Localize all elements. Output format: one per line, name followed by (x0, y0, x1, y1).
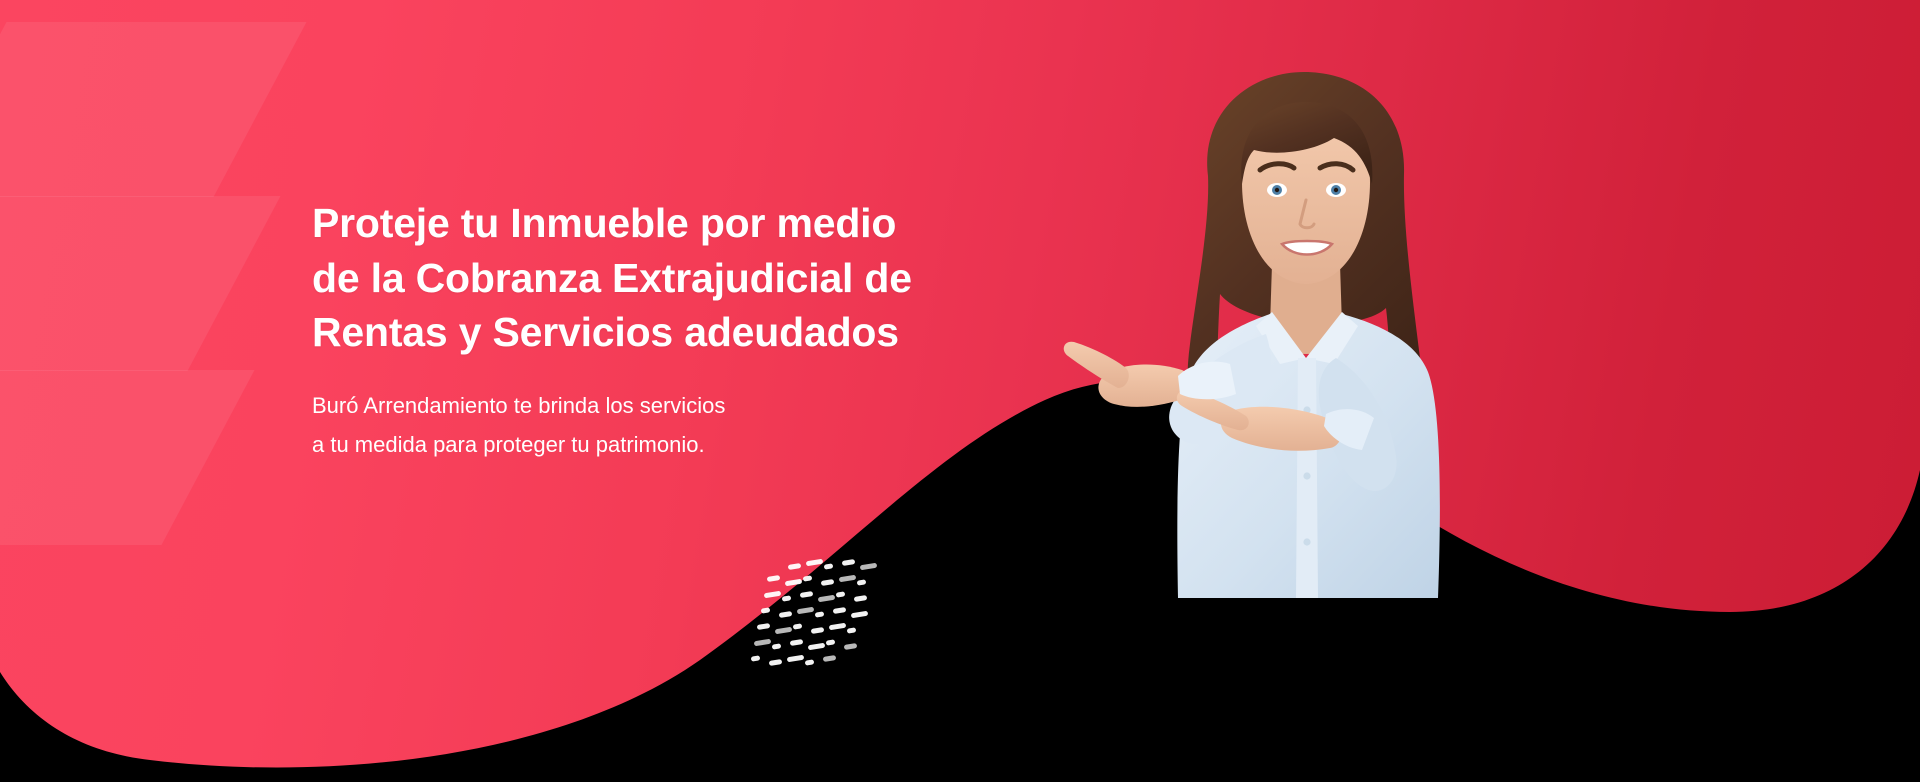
dot-dash (853, 595, 867, 602)
dot-dash (790, 639, 804, 646)
headline-line-2: de la Cobranza Extrajudicial de (312, 251, 1032, 306)
dot-dash (829, 623, 847, 631)
dot-dash (844, 643, 858, 650)
dot-dash (781, 595, 791, 601)
dot-dash (754, 639, 772, 647)
dot-dash (821, 579, 835, 586)
dot-dash (799, 591, 813, 598)
headline-line-1: Proteje tu Inmueble por medio (312, 196, 1032, 251)
dot-dash (787, 655, 805, 663)
dot-dash (793, 623, 803, 629)
shirt-button-3 (1303, 538, 1310, 545)
dot-dash (860, 563, 878, 571)
dot-dash (857, 579, 867, 585)
dot-dash (832, 607, 846, 614)
dot-dash (757, 623, 771, 630)
dot-dash (811, 627, 825, 634)
dot-dash (775, 627, 793, 635)
dot-dash (850, 611, 868, 619)
dot-dash (839, 575, 857, 583)
dot-dash (808, 643, 826, 651)
page-title: Proteje tu Inmueble por medio de la Cobr… (312, 196, 1032, 360)
dot-dash (824, 563, 834, 569)
hero-banner: Proteje tu Inmueble por medio de la Cobr… (0, 0, 1920, 782)
dot-dash (814, 611, 824, 617)
subtitle-line-1: Buró Arrendamiento te brinda los servici… (312, 386, 1032, 425)
dot-dash (817, 595, 835, 603)
dot-dash (847, 627, 857, 633)
subtitle-line-2: a tu medida para proteger tu patrimonio. (312, 425, 1032, 464)
dot-dash (835, 591, 845, 597)
dot-dash (842, 559, 856, 566)
dot-dash (772, 643, 782, 649)
dot-dash (769, 659, 783, 666)
hero-copy-block: Proteje tu Inmueble por medio de la Cobr… (312, 196, 1032, 464)
dot-dash (826, 639, 836, 645)
headline-line-3: Rentas y Servicios adeudados (312, 305, 1032, 360)
dot-dash (823, 655, 837, 662)
hero-subtitle: Buró Arrendamiento te brinda los servici… (312, 386, 1032, 464)
shirt-button-2 (1303, 472, 1310, 479)
dot-dash (778, 611, 792, 618)
dot-dash (796, 607, 814, 615)
dot-dash (751, 655, 761, 661)
dot-dash (805, 659, 815, 665)
